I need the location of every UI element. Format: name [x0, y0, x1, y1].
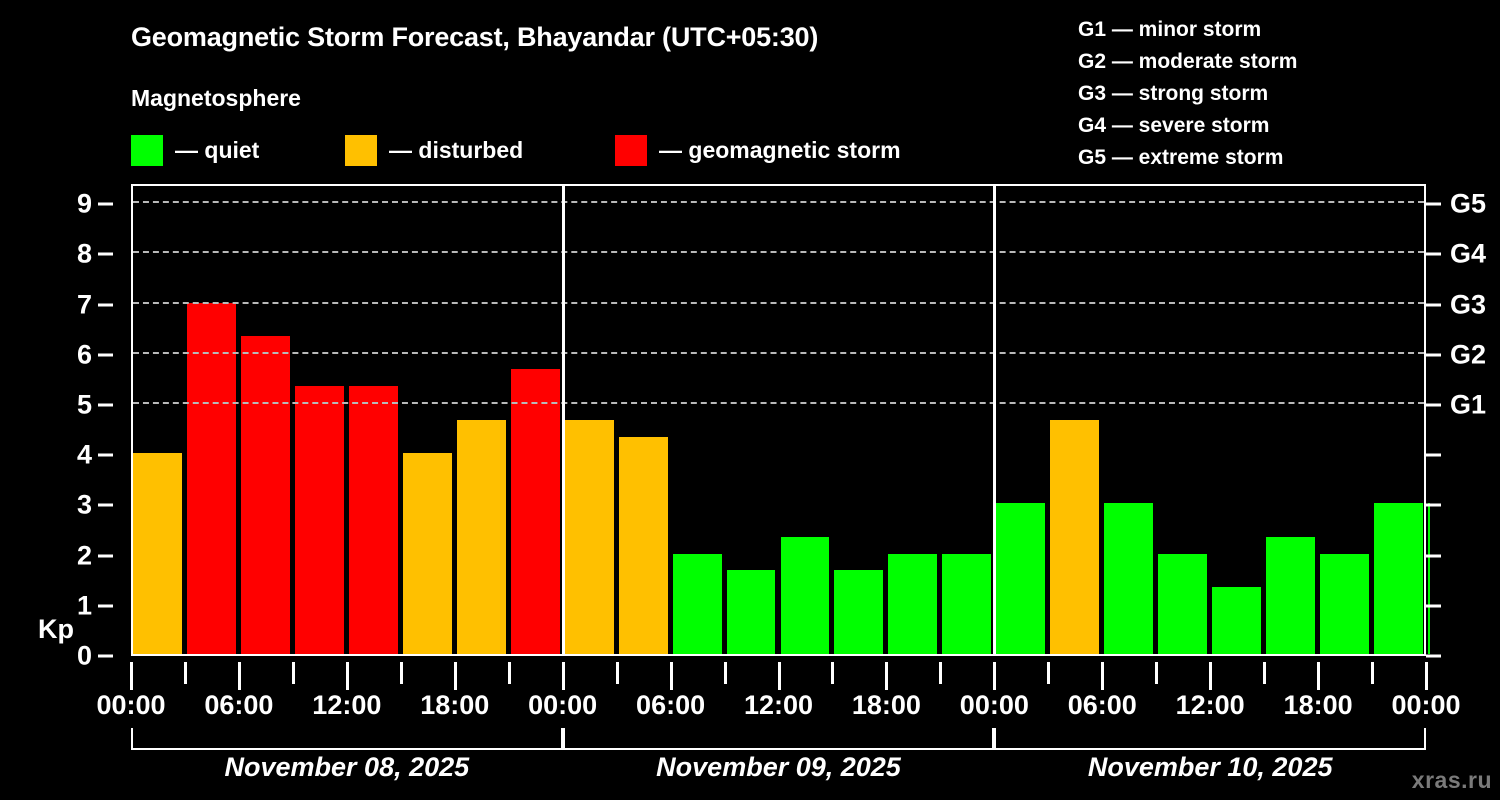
- gridline-kp-7: [133, 302, 1424, 304]
- bar-series: [133, 186, 1424, 654]
- day-bands: xras.ru November 08, 2025November 09, 20…: [0, 728, 1500, 800]
- g-tick-mark-kp-4: [1426, 454, 1441, 457]
- x-tick-label: 12:00: [1176, 692, 1245, 719]
- g-tick-mark-kp-6: [1426, 353, 1441, 356]
- page-title: Geomagnetic Storm Forecast, Bhayandar (U…: [131, 22, 818, 53]
- x-tick-mark: [1317, 662, 1320, 690]
- x-tick-mark: [831, 662, 834, 684]
- y-axis-title: Kp: [38, 614, 74, 645]
- x-tick-mark: [562, 662, 565, 690]
- y-tick-label-8: 8: [77, 241, 92, 268]
- g-tick-mark-kp-8: [1426, 253, 1441, 256]
- gridline-kp-6: [133, 352, 1424, 354]
- x-tick-label: 12:00: [744, 692, 813, 719]
- bar: [1158, 554, 1207, 654]
- x-tick-mark: [238, 662, 241, 690]
- x-tick-mark: [400, 662, 403, 684]
- x-tick-mark: [670, 662, 673, 690]
- y-tick-mark-8: [98, 253, 113, 256]
- y-tick-mark-9: [98, 203, 113, 206]
- y-tick-mark-3: [98, 504, 113, 507]
- legend-label-quiet: — quiet: [175, 139, 259, 162]
- x-tick-mark: [292, 662, 295, 684]
- gscale-row-g2: G2 — moderate storm: [1078, 46, 1297, 78]
- gridline-kp-8: [133, 251, 1424, 253]
- day-band-label-1: November 08, 2025: [225, 754, 470, 781]
- y-tick-label-2: 2: [77, 542, 92, 569]
- y-tick-mark-1: [98, 604, 113, 607]
- x-tick-mark: [724, 662, 727, 684]
- g-tick-mark-kp-1: [1426, 604, 1441, 607]
- g-tick-label-g3: G3: [1450, 291, 1486, 318]
- bar: [1320, 554, 1369, 654]
- y-tick-mark-2: [98, 554, 113, 557]
- disturbed-swatch-icon: [345, 135, 377, 166]
- gscale-row-g5: G5 — extreme storm: [1078, 142, 1297, 174]
- x-tick-label: 00:00: [96, 692, 165, 719]
- bar: [1050, 420, 1099, 654]
- x-tick-label: 06:00: [636, 692, 705, 719]
- bar: [349, 386, 398, 654]
- quiet-swatch-icon: [131, 135, 163, 166]
- x-tick-label: 00:00: [1391, 692, 1460, 719]
- y-tick-label-1: 1: [77, 592, 92, 619]
- g-tick-mark-kp-3: [1426, 504, 1441, 507]
- g-tick-label-g4: G4: [1450, 241, 1486, 268]
- x-tick-label: 06:00: [204, 692, 273, 719]
- gscale-row-g3: G3 — strong storm: [1078, 78, 1297, 110]
- g-tick-mark-kp-5: [1426, 403, 1441, 406]
- g-tick-mark-kp-2: [1426, 554, 1441, 557]
- gscale-legend: G1 — minor storm G2 — moderate storm G3 …: [1078, 14, 1297, 174]
- bar: [834, 570, 883, 654]
- x-tick-label: 18:00: [420, 692, 489, 719]
- day-band-label-3: November 10, 2025: [1088, 754, 1333, 781]
- bar: [942, 554, 991, 654]
- bar: [619, 437, 668, 654]
- x-tick-mark: [1371, 662, 1374, 684]
- y-tick-label-3: 3: [77, 492, 92, 519]
- bar: [673, 554, 722, 654]
- bar: [996, 503, 1045, 654]
- y-tick-mark-7: [98, 303, 113, 306]
- bar: [295, 386, 344, 654]
- x-tick-mark: [993, 662, 996, 690]
- x-tick-mark: [1209, 662, 1212, 690]
- x-tick-mark: [1425, 662, 1428, 690]
- day-band-label-2: November 09, 2025: [656, 754, 901, 781]
- x-tick-mark: [130, 662, 133, 690]
- g-tick-mark-kp-9: [1426, 203, 1441, 206]
- bar: [888, 554, 937, 654]
- bar: [727, 570, 776, 654]
- plot-area: [131, 184, 1426, 656]
- y-axis: Kp 0123456789: [0, 184, 131, 656]
- bar: [1212, 587, 1261, 654]
- bar: [403, 453, 452, 654]
- y-tick-label-5: 5: [77, 391, 92, 418]
- x-axis: 00:0006:0012:0018:0000:0006:0012:0018:00…: [0, 656, 1500, 716]
- g-tick-label-g1: G1: [1450, 391, 1486, 418]
- storm-swatch-icon: [615, 135, 647, 166]
- y-tick-label-7: 7: [77, 291, 92, 318]
- x-tick-label: 12:00: [312, 692, 381, 719]
- g-tick-label-g2: G2: [1450, 341, 1486, 368]
- x-tick-mark: [1101, 662, 1104, 690]
- legend-label-disturbed: — disturbed: [389, 139, 523, 162]
- y-tick-label-4: 4: [77, 442, 92, 469]
- bar: [457, 420, 506, 654]
- legend-label-storm: — geomagnetic storm: [659, 139, 901, 162]
- bar: [565, 420, 614, 654]
- bar: [133, 453, 182, 654]
- legend-item-quiet: — quiet: [131, 134, 259, 166]
- x-tick-mark: [1047, 662, 1050, 684]
- legend-item-storm: — geomagnetic storm: [615, 134, 901, 166]
- x-tick-mark: [616, 662, 619, 684]
- x-tick-label: 06:00: [1068, 692, 1137, 719]
- y-tick-label-6: 6: [77, 341, 92, 368]
- x-tick-mark: [508, 662, 511, 684]
- y-tick-mark-4: [98, 454, 113, 457]
- g-tick-label-g5: G5: [1450, 191, 1486, 218]
- day-divider-2: [993, 186, 996, 654]
- x-tick-mark: [939, 662, 942, 684]
- x-tick-mark: [454, 662, 457, 690]
- bar: [1266, 537, 1315, 654]
- y-tick-label-9: 9: [77, 191, 92, 218]
- x-tick-mark: [1155, 662, 1158, 684]
- x-tick-label: 00:00: [528, 692, 597, 719]
- day-band-3: [994, 728, 1426, 750]
- x-tick-mark: [778, 662, 781, 690]
- bar: [1104, 503, 1153, 654]
- chart-root: Geomagnetic Storm Forecast, Bhayandar (U…: [0, 0, 1500, 800]
- g-tick-mark-kp-7: [1426, 303, 1441, 306]
- x-tick-mark: [184, 662, 187, 684]
- day-divider-1: [562, 186, 565, 654]
- g-axis: G1G2G3G4G5: [1426, 184, 1500, 656]
- bar: [1374, 503, 1423, 654]
- x-tick-label: 18:00: [1284, 692, 1353, 719]
- gridline-kp-9: [133, 201, 1424, 203]
- x-tick-label: 18:00: [852, 692, 921, 719]
- x-tick-mark: [346, 662, 349, 690]
- x-tick-label: 00:00: [960, 692, 1029, 719]
- gscale-row-g4: G4 — severe storm: [1078, 110, 1297, 142]
- bar: [511, 369, 560, 654]
- y-tick-mark-5: [98, 403, 113, 406]
- bar: [781, 537, 830, 654]
- gscale-row-g1: G1 — minor storm: [1078, 14, 1297, 46]
- watermark: xras.ru: [1412, 767, 1492, 794]
- day-band-2: [563, 728, 995, 750]
- x-tick-mark: [1263, 662, 1266, 684]
- y-tick-mark-6: [98, 353, 113, 356]
- gridline-kp-5: [133, 402, 1424, 404]
- legend-item-disturbed: — disturbed: [345, 134, 523, 166]
- bar: [241, 336, 290, 654]
- day-band-1: [131, 728, 563, 750]
- bar: [187, 303, 236, 654]
- magnetosphere-label: Magnetosphere: [131, 85, 301, 112]
- x-tick-mark: [885, 662, 888, 690]
